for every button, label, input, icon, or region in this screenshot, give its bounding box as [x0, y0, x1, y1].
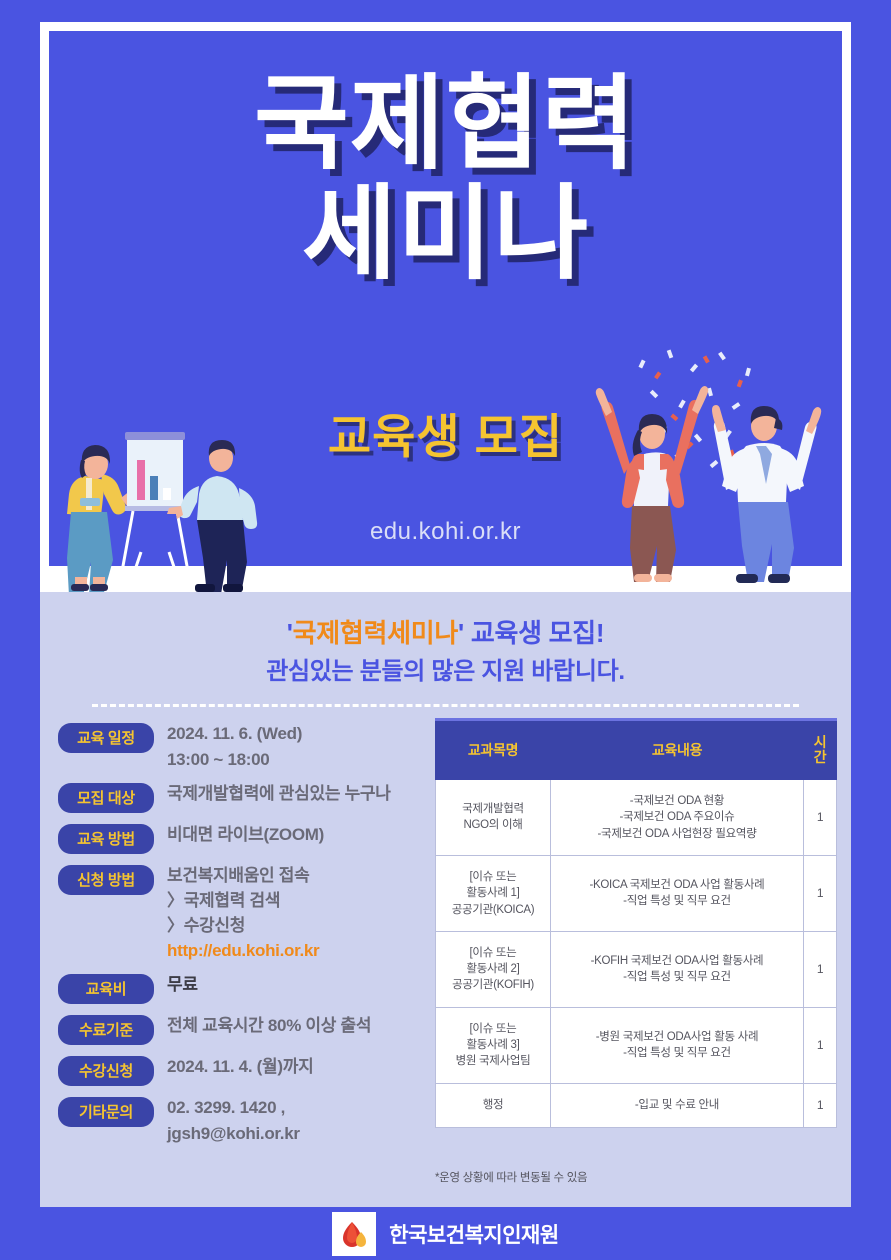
headline-primary: '국제협력세미나' 교육생 모집!: [40, 616, 851, 651]
info-label-7: 기타문의: [58, 1097, 154, 1127]
info-value-6: 2024. 11. 4. (월)까지: [167, 1054, 313, 1079]
info-row: 수료기준전체 교육시간 80% 이상 출석: [58, 1013, 448, 1045]
info-row: 교육 일정2024. 11. 6. (Wed)13:00 ~ 18:00: [58, 721, 448, 771]
info-row: 교육 방법비대면 라이브(ZOOM): [58, 822, 448, 854]
content-cell: -병원 국제보건 ODA사업 활동 사례-직업 특성 및 직무 요건: [551, 1007, 804, 1083]
info-value-1: 국제개발협력에 관심있는 누구나: [167, 781, 391, 806]
table-row: [이슈 또는활동사례 3]병원 국제사업팀-병원 국제보건 ODA사업 활동 사…: [436, 1007, 837, 1083]
subject-cell: 행정: [436, 1083, 551, 1127]
info-label-0: 교육 일정: [58, 723, 154, 753]
info-value-line: 2024. 11. 4. (월)까지: [167, 1054, 313, 1079]
info-value-line: 무료: [167, 972, 198, 997]
info-row: 수강신청2024. 11. 4. (월)까지: [58, 1054, 448, 1086]
content-cell: -입교 및 수료 안내: [551, 1083, 804, 1127]
content-cell: -KOFIH 국제보건 ODA사업 활동사례-직업 특성 및 직무 요건: [551, 931, 804, 1007]
headline-rest: 교육생 모집!: [464, 618, 604, 648]
info-row: 교육비무료: [58, 972, 448, 1004]
subject-cell-line: 행정: [483, 1099, 504, 1111]
content-cell-line: -입교 및 수료 안내: [635, 1099, 719, 1111]
registration-link[interactable]: http://edu.kohi.or.kr: [167, 938, 319, 963]
info-value-2: 비대면 라이브(ZOOM): [167, 822, 324, 847]
subject-cell-line: 활동사례 1]: [466, 887, 519, 899]
info-value-line: 전체 교육시간 80% 이상 출석: [167, 1013, 371, 1038]
subject-cell: [이슈 또는활동사례 2]공공기관(KOFIH): [436, 931, 551, 1007]
content-cell-line: -직업 특성 및 직무 요건: [623, 971, 731, 983]
subject-cell: [이슈 또는활동사례 3]병원 국제사업팀: [436, 1007, 551, 1083]
organization-logo: [332, 1212, 376, 1256]
content-cell-line: -KOICA 국제보건 ODA 사업 활동사례: [590, 879, 765, 891]
organization-name: 한국보건복지인재원: [389, 1219, 558, 1249]
header-hours: 시간: [804, 720, 837, 779]
info-list: 교육 일정2024. 11. 6. (Wed)13:00 ~ 18:00모집 대…: [58, 721, 448, 1154]
hero-title-line-1: 국제협력: [49, 73, 842, 175]
info-value-line: 국제개발협력에 관심있는 누구나: [167, 781, 391, 806]
content-cell-line: -국제보건 ODA 주요이슈: [620, 811, 735, 823]
table-header-row: 교과목명 교육내용 시간: [436, 720, 837, 779]
table-row: [이슈 또는활동사례 2]공공기관(KOFIH)-KOFIH 국제보건 ODA사…: [436, 931, 837, 1007]
content-columns: 교육 일정2024. 11. 6. (Wed)13:00 ~ 18:00모집 대…: [40, 721, 851, 1191]
subject-cell-line: 공공기관(KOFIH): [452, 979, 534, 991]
content-cell: -국제보건 ODA 현황-국제보건 ODA 주요이슈-국제보건 ODA 사업현장…: [551, 779, 804, 855]
subject-cell-line: 활동사례 3]: [466, 1039, 519, 1051]
hero-banner: 국제협력 세미나 교육생 모집 edu.kohi.or.kr: [0, 0, 891, 592]
info-value-line: 보건복지배움인 접속: [167, 863, 319, 888]
info-label-1: 모집 대상: [58, 783, 154, 813]
content-cell-line: -병원 국제보건 ODA사업 활동 사례: [596, 1031, 759, 1043]
hours-cell: 1: [804, 1083, 837, 1127]
header-subject: 교과목명: [436, 720, 551, 779]
content-cell-line: -KOFIH 국제보건 ODA사업 활동사례: [591, 955, 764, 967]
info-label-5: 수료기준: [58, 1015, 154, 1045]
hero-inner: 국제협력 세미나 교육생 모집 edu.kohi.or.kr: [49, 31, 842, 592]
table-row: [이슈 또는활동사례 1]공공기관(KOICA)-KOICA 국제보건 ODA …: [436, 855, 837, 931]
hours-cell: 1: [804, 779, 837, 855]
content-cell: -KOICA 국제보건 ODA 사업 활동사례-직업 특성 및 직무 요건: [551, 855, 804, 931]
info-row: 기타문의02. 3299. 1420 ,jgsh9@kohi.or.kr: [58, 1095, 448, 1145]
footer-bar: 한국보건복지인재원: [0, 1207, 891, 1260]
hours-cell: 1: [804, 931, 837, 1007]
subject-cell-line: 국제개발협력: [462, 803, 524, 815]
info-row: 신청 방법보건복지배움인 접속〉국제협력 검색〉수강신청http://edu.k…: [58, 863, 448, 964]
info-label-4: 교육비: [58, 974, 154, 1004]
table-note: *운영 상황에 따라 변동될 수 있음: [435, 1169, 837, 1185]
info-value-5: 전체 교육시간 80% 이상 출석: [167, 1013, 371, 1038]
content-cell-line: -국제보건 ODA 현황: [630, 795, 724, 807]
info-value-line: 13:00 ~ 18:00: [167, 747, 302, 772]
table-row: 행정-입교 및 수료 안내1: [436, 1083, 837, 1127]
info-label-2: 교육 방법: [58, 824, 154, 854]
dashed-divider: [92, 704, 799, 707]
content-cell-line: -국제보건 ODA 사업현장 필요역량: [598, 828, 757, 840]
subject-cell-line: 활동사례 2]: [466, 963, 519, 975]
subject-cell-line: 공공기관(KOICA): [452, 904, 534, 916]
hero-website-url: edu.kohi.or.kr: [49, 518, 842, 546]
hero-subtitle: 교육생 모집: [49, 398, 842, 467]
header-content: 교육내용: [551, 720, 804, 779]
info-value-4: 무료: [167, 972, 198, 997]
headline-block: '국제협력세미나' 교육생 모집! 관심있는 분들의 많은 지원 바랍니다.: [40, 592, 851, 687]
content-cell-line: -직업 특성 및 직무 요건: [623, 895, 731, 907]
content-panel: '국제협력세미나' 교육생 모집! 관심있는 분들의 많은 지원 바랍니다. 교…: [40, 592, 851, 1207]
content-cell-line: -직업 특성 및 직무 요건: [623, 1047, 731, 1059]
hero-title-line-2: 세미나: [49, 183, 842, 285]
curriculum-table: 교과목명 교육내용 시간 국제개발협력NGO의 이해-국제보건 ODA 현황-국…: [435, 718, 837, 1127]
info-value-line: 〉국제협력 검색: [167, 888, 319, 913]
table-body: 국제개발협력NGO의 이해-국제보건 ODA 현황-국제보건 ODA 주요이슈-…: [436, 779, 837, 1127]
subject-cell-line: 병원 국제사업팀: [456, 1055, 531, 1067]
subject-cell-line: [이슈 또는: [470, 947, 517, 959]
headline-accent: 국제협력세미나: [293, 618, 458, 648]
info-value-7: 02. 3299. 1420 ,jgsh9@kohi.or.kr: [167, 1095, 300, 1145]
table-row: 국제개발협력NGO의 이해-국제보건 ODA 현황-국제보건 ODA 주요이슈-…: [436, 779, 837, 855]
info-value-line: 2024. 11. 6. (Wed): [167, 721, 302, 746]
subject-cell: [이슈 또는활동사례 1]공공기관(KOICA): [436, 855, 551, 931]
info-label-3: 신청 방법: [58, 865, 154, 895]
info-row: 모집 대상국제개발협력에 관심있는 누구나: [58, 781, 448, 813]
info-value-line: 02. 3299. 1420 ,: [167, 1095, 300, 1120]
hours-cell: 1: [804, 1007, 837, 1083]
hours-cell: 1: [804, 855, 837, 931]
subject-cell: 국제개발협력NGO의 이해: [436, 779, 551, 855]
curriculum-table-wrap: 교과목명 교육내용 시간 국제개발협력NGO의 이해-국제보건 ODA 현황-국…: [435, 718, 837, 1127]
headline-secondary: 관심있는 분들의 많은 지원 바랍니다.: [40, 656, 851, 688]
info-value-line: jgsh9@kohi.or.kr: [167, 1121, 300, 1146]
subject-cell-line: [이슈 또는: [470, 871, 517, 883]
info-value-line: 〉수강신청: [167, 913, 319, 938]
subject-cell-line: [이슈 또는: [470, 1023, 517, 1035]
info-value-3: 보건복지배움인 접속〉국제협력 검색〉수강신청http://edu.kohi.o…: [167, 863, 319, 964]
info-value-0: 2024. 11. 6. (Wed)13:00 ~ 18:00: [167, 721, 302, 771]
subject-cell-line: NGO의 이해: [463, 819, 522, 831]
celebration-illustration: [580, 342, 842, 592]
info-value-line: 비대면 라이브(ZOOM): [167, 822, 324, 847]
flame-logo-icon: [339, 1219, 369, 1249]
info-label-6: 수강신청: [58, 1056, 154, 1086]
hero-title: 국제협력 세미나: [49, 73, 842, 285]
